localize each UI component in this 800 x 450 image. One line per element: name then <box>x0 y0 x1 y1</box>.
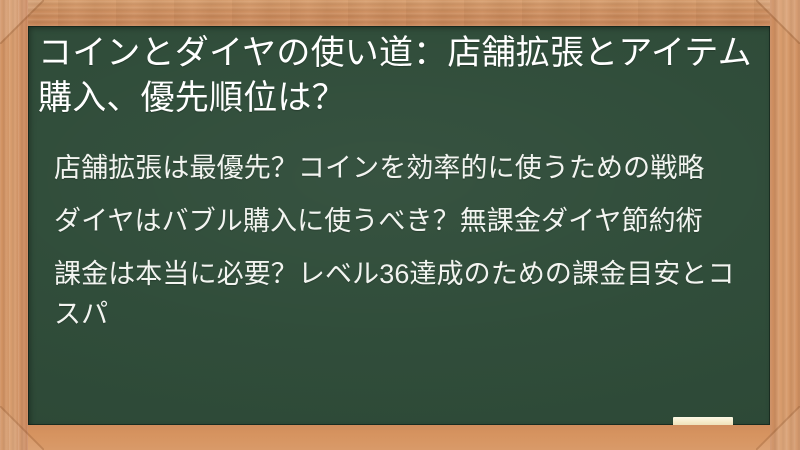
list-item: 店舗拡張は最優先？コインを効率的に使うための戦略 <box>54 148 754 188</box>
list-item: ダイヤはバブル購入に使うべき？無課金ダイヤ節約術 <box>54 201 754 241</box>
frame-rail-right <box>770 0 800 450</box>
frame-rail-top <box>0 0 800 26</box>
frame-rail-left <box>0 0 28 450</box>
chalkboard-surface: コインとダイヤの使い道：店舗拡張とアイテム購入、優先順位は？ 店舗拡張は最優先？… <box>28 26 770 425</box>
chalk-icon <box>673 417 733 425</box>
blackboard-frame: コインとダイヤの使い道：店舗拡張とアイテム購入、優先順位は？ 店舗拡張は最優先？… <box>0 0 800 450</box>
list-item: 課金は本当に必要？レベル36達成のための課金目安とコスパ <box>54 254 754 334</box>
frame-rail-bottom <box>0 425 800 450</box>
page-title: コインとダイヤの使い道：店舗拡張とアイテム購入、優先順位は？ <box>38 31 756 121</box>
topic-list: 店舗拡張は最優先？コインを効率的に使うための戦略 ダイヤはバブル購入に使うべき？… <box>54 148 754 334</box>
